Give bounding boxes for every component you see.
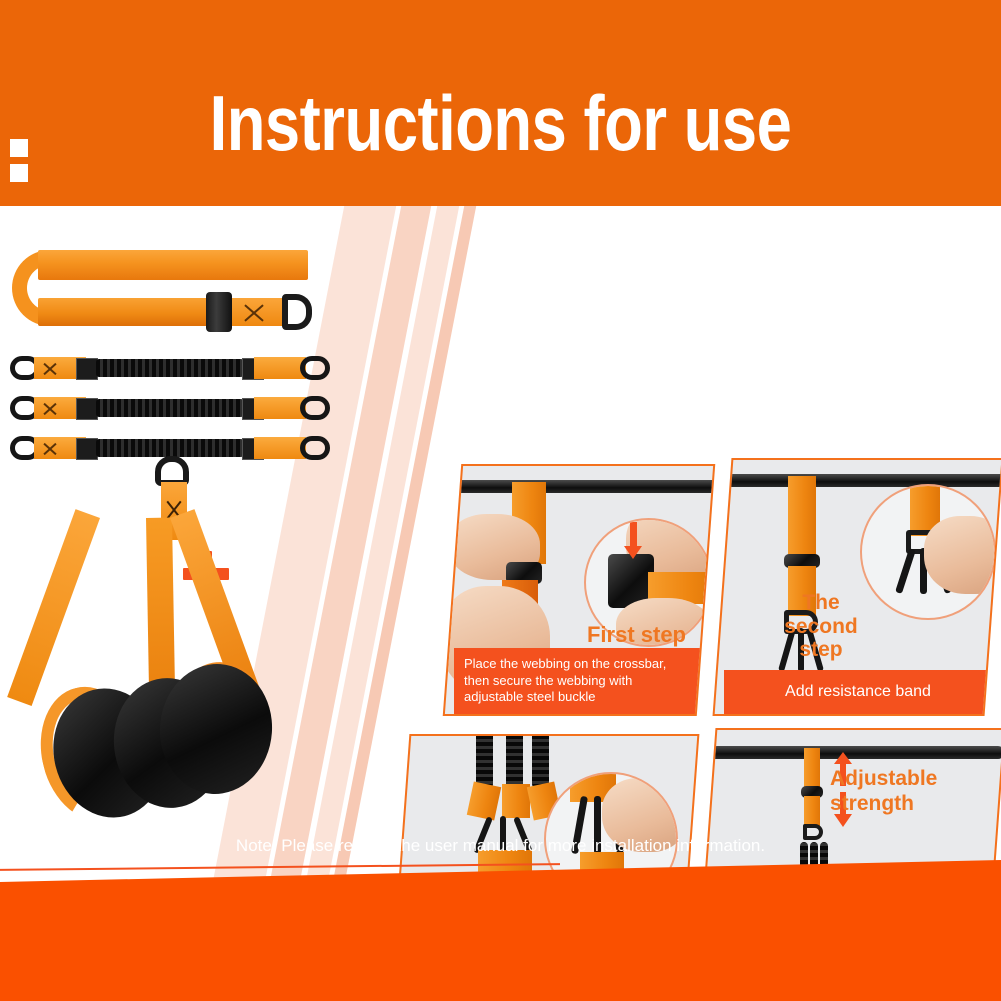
hand-inset xyxy=(924,516,996,594)
panel-second-step-label: The second step xyxy=(766,591,876,662)
up-arrow-icon xyxy=(834,752,852,764)
panel-second-step-inner: The second step Add resistance band xyxy=(724,460,992,714)
crossbar xyxy=(443,480,716,493)
resistance-tube-2 xyxy=(506,734,523,788)
webbing-strap xyxy=(788,476,816,560)
panel-first-step-caption: Place the webbing on the crossbar, then … xyxy=(454,648,704,714)
footer-note: Note: Please refer to the user manual fo… xyxy=(0,836,1001,856)
panel-second-step[interactable]: The second step Add resistance band xyxy=(713,458,1001,716)
header-bullet-square-2 xyxy=(10,164,28,182)
panel-adjustable-strength-label: Adjustable strength xyxy=(830,766,980,816)
crossbar xyxy=(713,474,1001,487)
carabiner-inset-1 xyxy=(895,548,916,594)
panel-first-step[interactable]: First step Place the webbing on the cros… xyxy=(443,464,716,716)
band-cuff-2 xyxy=(502,784,530,818)
page-footer: Note: Please refer to the user manual fo… xyxy=(0,887,1001,1001)
down-arrow-icon xyxy=(624,546,642,559)
resistance-tube-3 xyxy=(532,734,549,788)
inset-closeup-carabiners xyxy=(860,484,996,620)
page-header: Instructions for use xyxy=(0,0,1001,206)
panel-second-step-caption: Add resistance band xyxy=(724,670,992,714)
panel-first-step-inner: First step Place the webbing on the cros… xyxy=(454,466,704,714)
panel-first-step-label: First step xyxy=(587,623,686,648)
band-cuff-1 xyxy=(467,781,501,820)
down-arrow-stem xyxy=(630,522,637,548)
resistance-tube-1 xyxy=(476,734,493,788)
content-stage: First step Place the webbing on the cros… xyxy=(0,206,1001,887)
instruction-panel-grid: First step Place the webbing on the cros… xyxy=(0,206,1001,887)
page-title: Instructions for use xyxy=(20,84,981,162)
